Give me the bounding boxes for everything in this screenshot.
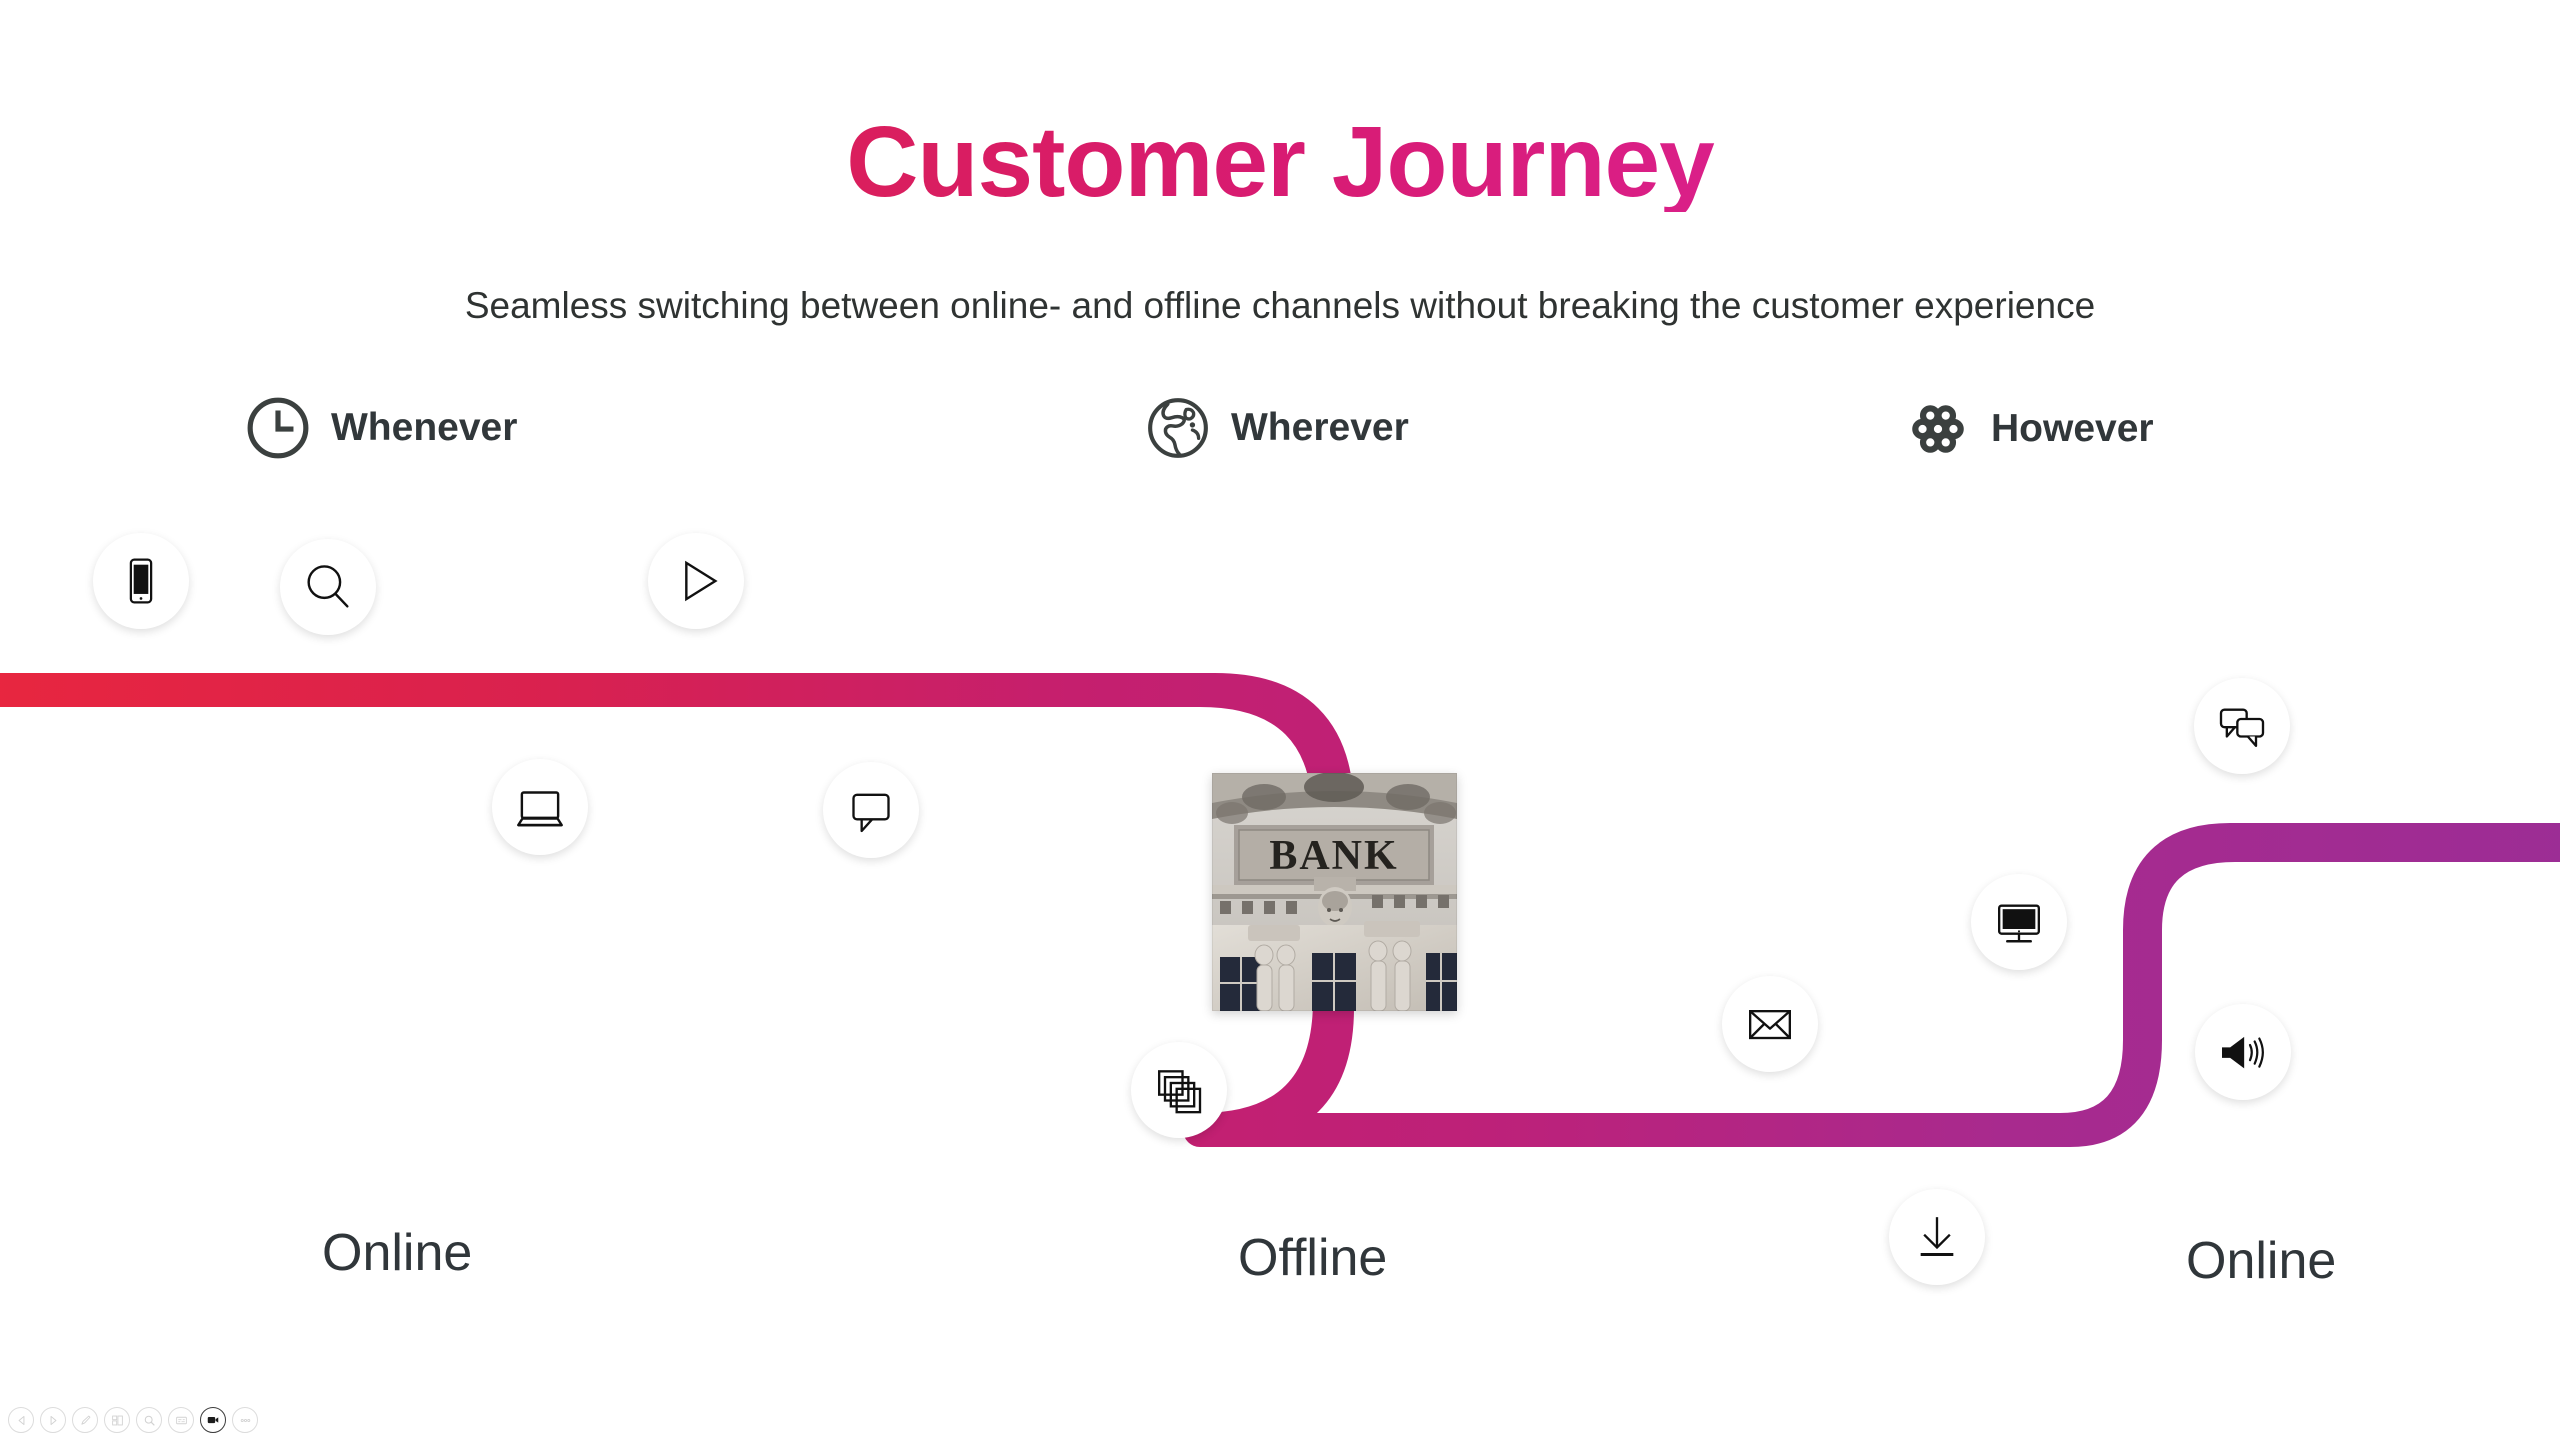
previous-slide-button[interactable]: [8, 1407, 34, 1433]
pillar-label: Whenever: [331, 406, 517, 450]
stage-label-online-first: Online: [322, 1223, 472, 1283]
presentation-toolbar: [8, 1405, 258, 1435]
play-icon: [667, 552, 725, 610]
globe-icon: [1145, 395, 1211, 461]
camera-button[interactable]: [200, 1407, 226, 1433]
chat-bubble-icon: [843, 782, 899, 838]
touchpoint-email[interactable]: [1722, 976, 1818, 1072]
all-slides-button[interactable]: [104, 1407, 130, 1433]
ellipsis-icon: [239, 1414, 252, 1427]
slide-subtitle: Seamless switching between online- and o…: [0, 285, 2560, 327]
more-options-button[interactable]: [232, 1407, 258, 1433]
touchpoint-search[interactable]: [280, 539, 376, 635]
magnifier-icon: [143, 1414, 156, 1427]
triangle-right-icon: [47, 1414, 60, 1427]
caption-icon: [175, 1414, 188, 1427]
pillar-label: However: [1991, 407, 2154, 451]
chat-bubbles-icon: [2214, 698, 2270, 754]
presentation-slide: Customer Journey Seamless switching betw…: [0, 0, 2560, 1440]
touchpoint-desktop[interactable]: [1971, 874, 2067, 970]
triangle-left-icon: [15, 1414, 28, 1427]
svg-text:BANK: BANK: [1269, 833, 1398, 879]
touchpoint-download[interactable]: [1889, 1189, 1985, 1285]
pillar-wherever: Wherever: [1145, 395, 1409, 461]
touchpoint-play-video[interactable]: [648, 533, 744, 629]
smartphone-icon: [114, 554, 168, 608]
video-camera-icon: [206, 1413, 220, 1427]
pillar-however: However: [1905, 396, 2154, 462]
pen-tool-button[interactable]: [72, 1407, 98, 1433]
download-icon: [1909, 1209, 1965, 1265]
clock-icon: [245, 395, 311, 461]
subtitles-button[interactable]: [168, 1407, 194, 1433]
speaker-icon: [2215, 1024, 2271, 1080]
slide-title: Customer Journey: [0, 112, 2560, 212]
envelope-icon: [1742, 996, 1798, 1052]
layers-icon: [1151, 1062, 1207, 1118]
bank-facade-image: BANK: [1212, 773, 1457, 1011]
bank-building-photo: BANK: [1212, 773, 1457, 1011]
pen-icon: [79, 1414, 92, 1427]
touchpoint-conversation[interactable]: [2194, 678, 2290, 774]
stage-label-online-second: Online: [2186, 1231, 2336, 1291]
touchpoint-smartphone[interactable]: [93, 533, 189, 629]
touchpoint-documents[interactable]: [1131, 1042, 1227, 1138]
laptop-icon: [511, 778, 569, 836]
zoom-button[interactable]: [136, 1407, 162, 1433]
stage-label-offline: Offline: [1238, 1228, 1387, 1288]
pillar-whenever: Whenever: [245, 395, 517, 461]
touchpoint-audio[interactable]: [2195, 1004, 2291, 1100]
touchpoint-laptop[interactable]: [492, 759, 588, 855]
next-slide-button[interactable]: [40, 1407, 66, 1433]
search-icon: [299, 558, 357, 616]
monitor-icon: [1991, 894, 2047, 950]
flower-cluster-icon: [1905, 396, 1971, 462]
pillar-label: Wherever: [1231, 406, 1409, 450]
touchpoint-chat[interactable]: [823, 762, 919, 858]
grid-icon: [111, 1414, 124, 1427]
